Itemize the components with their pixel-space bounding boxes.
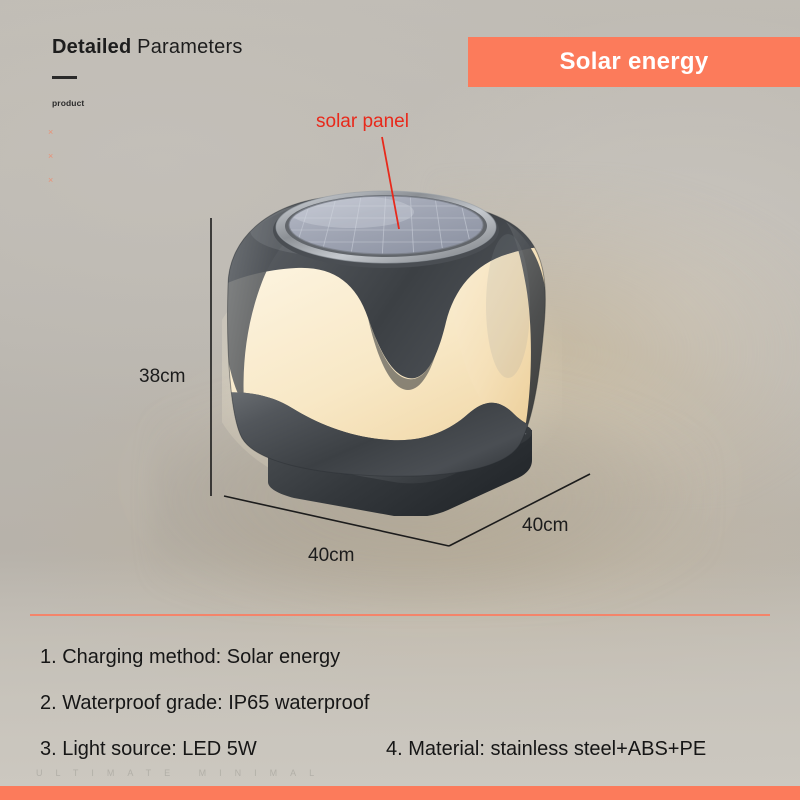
- product-illustration: [222, 186, 562, 516]
- height-dimension-label: 38cm: [139, 366, 185, 388]
- solar-panel-callout-label: solar panel: [316, 111, 409, 133]
- spec-item-material: 4. Material: stainless steel+ABS+PE: [386, 738, 706, 761]
- solar-energy-banner-label: Solar energy: [560, 48, 709, 76]
- decorative-marks-column: × × ×: [48, 128, 53, 185]
- solar-panel: [272, 190, 502, 268]
- spec-item-charging-method: 1. Charging method: Solar energy: [40, 646, 340, 669]
- depth-dimension-label: 40cm: [522, 515, 568, 537]
- width-dimension-label: 40cm: [308, 545, 354, 567]
- subtitle-product: product: [52, 98, 84, 108]
- page-title: Detailed Parameters: [52, 36, 243, 59]
- cross-mark-icon-1: ×: [48, 128, 53, 137]
- spec-item-light-source: 3. Light source: LED 5W: [40, 738, 257, 761]
- footer-watermark: ULTIMATE MINIMAL: [36, 768, 327, 778]
- solar-energy-banner: Solar energy: [468, 37, 800, 87]
- page-title-bold: Detailed: [52, 36, 131, 58]
- page-title-light: Parameters: [131, 36, 242, 58]
- lamp-svg: [222, 186, 562, 516]
- cross-mark-icon-2: ×: [48, 152, 53, 161]
- product-detail-image: Detailed Parameters product × × × Solar …: [0, 0, 800, 800]
- footer-accent-bar: [0, 786, 800, 800]
- title-underline-rule: [52, 76, 77, 79]
- cross-mark-icon-3: ×: [48, 176, 53, 185]
- spec-item-waterproof-grade: 2. Waterproof grade: IP65 waterproof: [40, 692, 369, 715]
